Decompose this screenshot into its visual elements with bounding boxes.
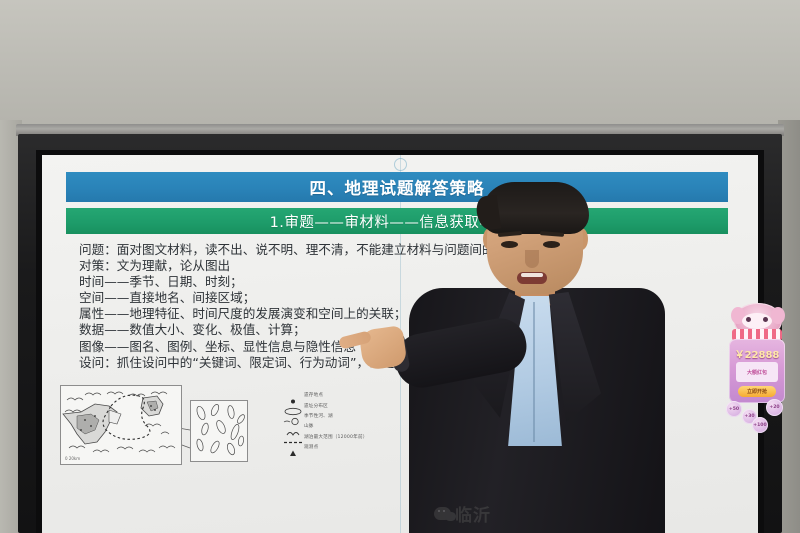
figure-regional-map: 0 20km (60, 385, 182, 465)
promo-ticket-label: 大额红包 (747, 369, 767, 376)
legend-label: 观测点 (304, 444, 318, 450)
legend-circle-icon (282, 411, 304, 420)
legend-item: 观测点 (282, 442, 402, 452)
promo-amount-label: ￥22888 (729, 346, 785, 361)
promo-bubble[interactable]: +20 (766, 399, 783, 416)
legend-triangle-icon (282, 443, 304, 452)
legend-item: 山脉 (282, 421, 402, 431)
promo-claim-button[interactable]: 立即开抢 (738, 386, 776, 397)
promo-bubble-label: +20 (769, 405, 779, 410)
legend-item: 湖泊最大范围（12000年前） (282, 432, 402, 442)
presenter-hair (481, 182, 589, 234)
legend-item: 遗存地点 (282, 390, 402, 400)
map-legend: 遗存地点 遗址分布区 季节性河、湖 (282, 390, 402, 452)
watermark-text: 临沂 (455, 501, 491, 526)
promo-mascot-eyes (746, 317, 768, 322)
regional-map-drawing (61, 386, 181, 464)
promo-widget[interactable]: ￥22888 大额红包 立即开抢 +50 +20 +30 +100 (726, 303, 788, 431)
legend-label: 遗址分布区 (304, 403, 328, 409)
promo-bubble-label: +100 (753, 423, 766, 428)
wechat-icon (434, 507, 451, 520)
detail-inset-drawing (191, 401, 247, 461)
presenter-person (395, 176, 670, 533)
promo-card[interactable]: ￥22888 大额红包 立即开抢 (729, 339, 785, 403)
legend-item: 季节性河、湖 (282, 411, 402, 421)
figure-detail-inset (190, 400, 248, 462)
legend-label: 遗存地点 (304, 392, 323, 398)
legend-dashed-line-icon (282, 432, 304, 441)
legend-dot-icon (282, 391, 304, 400)
legend-label: 湖泊最大范围（12000年前） (304, 434, 368, 440)
legend-ellipse-icon (282, 401, 304, 410)
promo-bubble[interactable]: +100 (752, 417, 768, 433)
presenter-shirt-placket (533, 302, 535, 442)
wall-upper (0, 0, 800, 128)
promo-claim-button-label: 立即开抢 (747, 388, 767, 395)
presenter-mouth (517, 272, 547, 284)
presenter-eye-right (543, 241, 560, 248)
presenter-nose (525, 250, 539, 268)
classroom-scene: 四、地理试题解答策略 1.审题——审材料——信息获取与解读 问题：面对图文材料，… (0, 0, 800, 533)
promo-bubble-label: +30 (744, 414, 754, 419)
promo-bubble-label: +50 (729, 407, 739, 412)
presenter-eye-left (501, 241, 518, 248)
legend-label: 季节性河、湖 (304, 413, 333, 419)
promo-ticket: 大额红包 (736, 362, 778, 382)
promo-bubble[interactable]: +50 (726, 401, 742, 417)
legend-mountain-icon (282, 422, 304, 431)
map-scale-label: 0 20km (65, 456, 80, 461)
legend-item: 遗址分布区 (282, 400, 402, 410)
legend-label: 山脉 (304, 423, 314, 429)
watermark: 临沂 (434, 501, 491, 526)
